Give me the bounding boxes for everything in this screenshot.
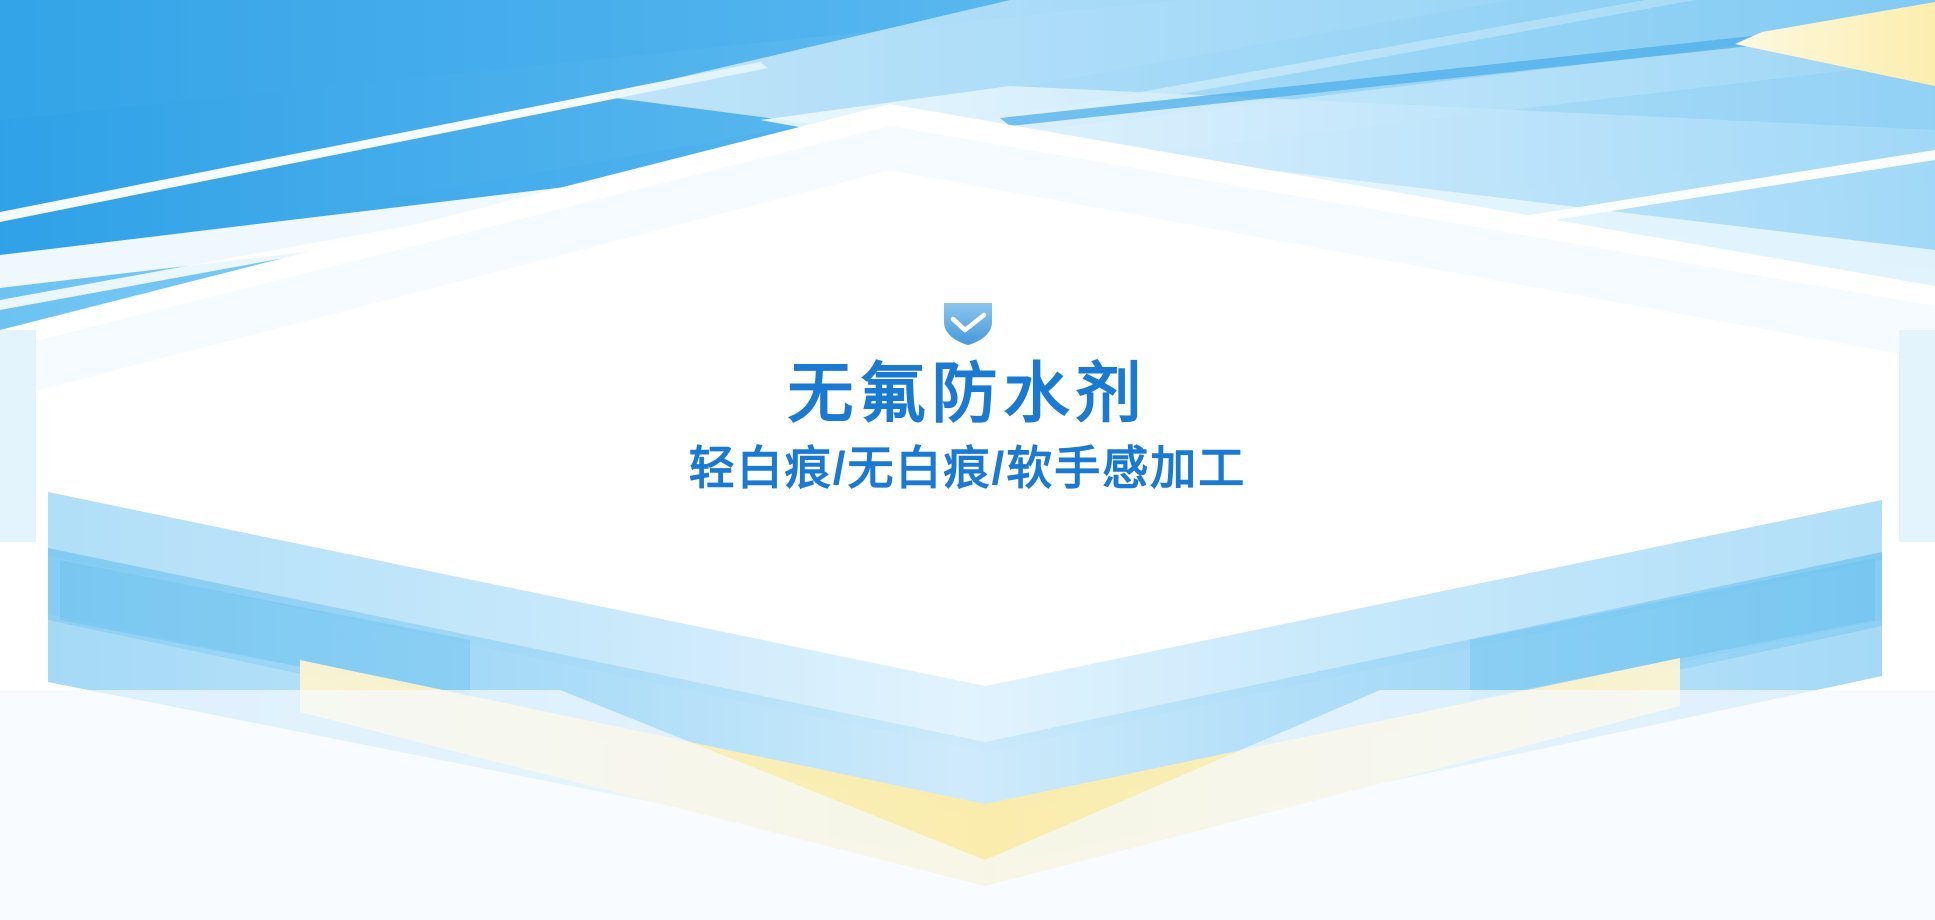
banner-root: 无氟防水剂 轻白痕/无白痕/软手感加工	[0, 0, 1935, 920]
left-edge-strip	[0, 330, 36, 542]
right-edge-strip	[1899, 330, 1935, 542]
background-artwork	[0, 0, 1935, 920]
